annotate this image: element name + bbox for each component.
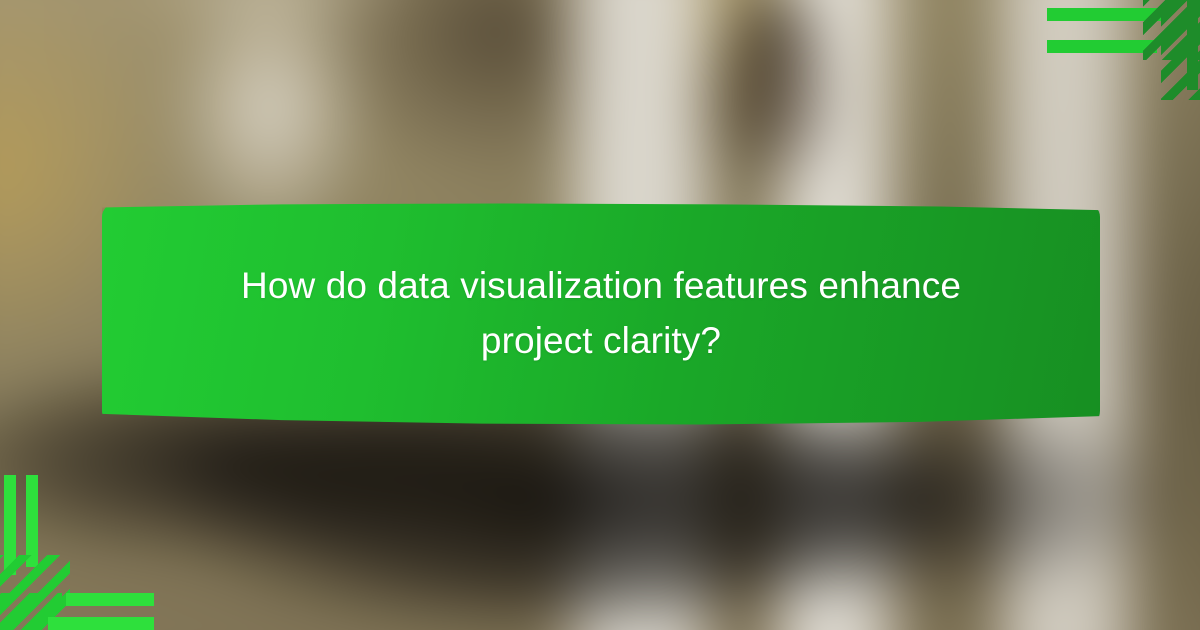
deco-bar-vertical-inner: [26, 475, 38, 567]
question-title: How do data visualization features enhan…: [201, 259, 1001, 369]
screenshot-canvas: How do data visualization features enhan…: [0, 0, 1200, 630]
deco-bar-horizontal-upper: [66, 593, 154, 606]
question-banner-inner: How do data visualization features enhan…: [201, 259, 1001, 369]
deco-bar-horizontal-lower: [48, 617, 154, 630]
deco-bar-vertical-right: [1187, 0, 1198, 90]
question-banner: How do data visualization features enhan…: [102, 203, 1100, 425]
corner-decoration-bottom-left: [0, 465, 170, 630]
deco-bar-horizontal-second: [1047, 40, 1157, 53]
corner-decoration-top-right: [1035, 0, 1200, 100]
